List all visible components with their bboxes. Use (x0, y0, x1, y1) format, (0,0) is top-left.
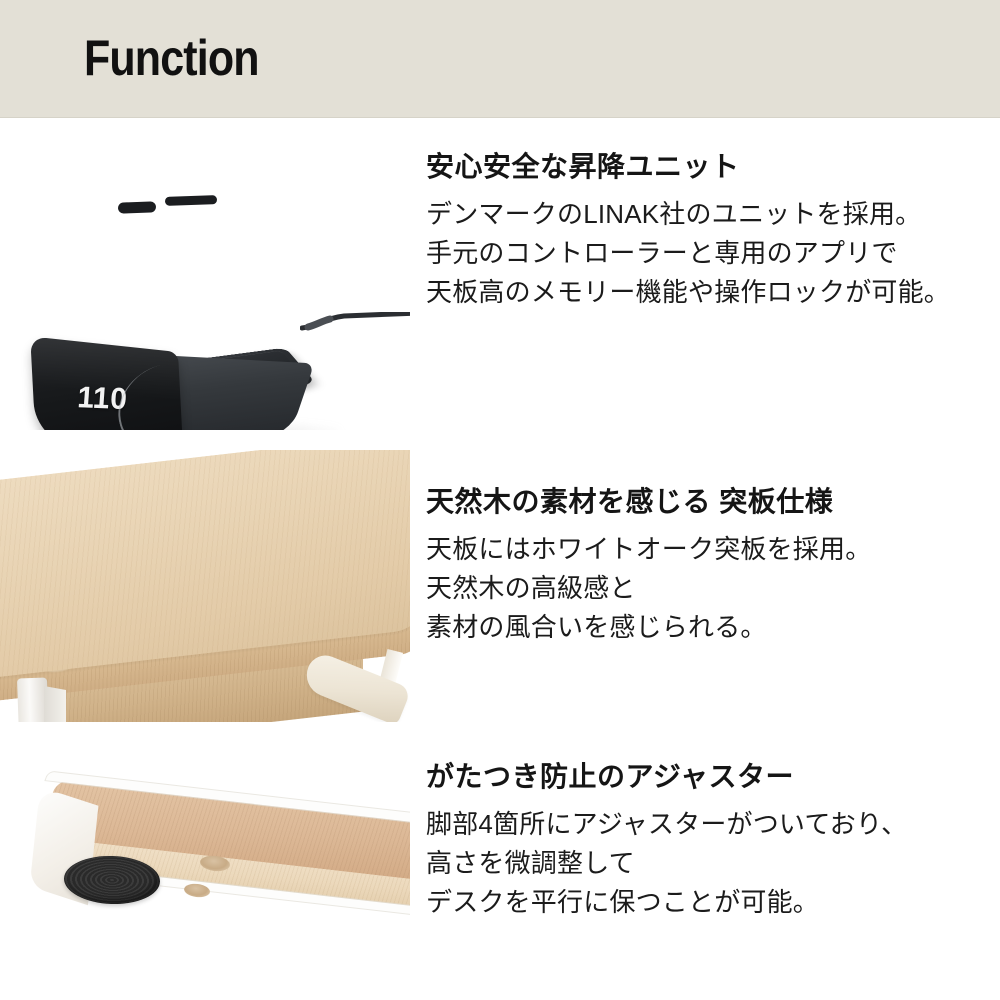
lift-unit-photo: 110 LINAK ® WE IMPROVE YOUR LIFE (0, 130, 410, 430)
controller-vent-slot (118, 201, 156, 213)
page-title: Function (84, 28, 259, 88)
desk-leg-bracket (44, 686, 66, 722)
veneer-copy: 天然木の素材を感じる 突板仕様 天板にはホワイトオーク突板を採用。 天然木の高級… (426, 485, 998, 647)
feature-body: 天板にはホワイトオーク突板を採用。 天然木の高級感と 素材の風合いを感じられる。 (426, 530, 998, 647)
feature-body-line: 脚部4箇所にアジャスターがついており、 (426, 805, 998, 844)
desk-top-photo (0, 440, 410, 730)
desk-top-illustration (0, 450, 410, 722)
feature-body-line: デンマークのLINAK社のユニットを採用。 (426, 195, 998, 234)
feature-body: デンマークのLINAK社のユニットを採用。 手元のコントローラーと専用のアプリで… (426, 195, 998, 312)
desk-controller-illustration: 110 (0, 130, 410, 430)
controller-cable-icon (300, 312, 410, 334)
feature-body-line: 天然木の高級感と (426, 569, 998, 608)
feature-body: 脚部4箇所にアジャスターがついており、 高さを微調整して デスクを平行に保つこと… (426, 805, 998, 922)
lift-unit-copy: 安心安全な昇降ユニット デンマークのLINAK社のユニットを採用。 手元のコント… (426, 150, 998, 312)
controller-vent-slot (165, 195, 217, 206)
adjuster-copy: がたつき防止のアジャスター 脚部4箇所にアジャスターがついており、 高さを微調整… (426, 760, 998, 922)
feature-body-line: 高さを微調整して (426, 844, 998, 883)
feature-heading: 天然木の素材を感じる 突板仕様 (426, 485, 998, 519)
adjuster-foot-illustration (0, 760, 410, 960)
feature-body-line: デスクを平行に保つことが可能。 (426, 883, 998, 922)
feature-section-adjuster: がたつき防止のアジャスター 脚部4箇所にアジャスターがついており、 高さを微調整… (0, 740, 1000, 970)
feature-body-line: 天板にはホワイトオーク突板を採用。 (426, 530, 998, 569)
feature-section-lift-unit: 110 LINAK ® WE IMPROVE YOUR LIFE (0, 130, 1000, 430)
feature-heading: がたつき防止のアジャスター (426, 760, 998, 794)
adjuster-photo (0, 740, 410, 970)
feature-body-line: 素材の風合いを感じられる。 (426, 608, 998, 647)
page-header-band: Function (0, 0, 1000, 118)
feature-body-line: 天板高のメモリー機能や操作ロックが可能。 (426, 273, 998, 312)
feature-heading: 安心安全な昇降ユニット (426, 150, 998, 184)
feature-section-veneer: 天然木の素材を感じる 突板仕様 天板にはホワイトオーク突板を採用。 天然木の高級… (0, 440, 1000, 730)
feature-body-line: 手元のコントローラーと専用のアプリで (426, 234, 998, 273)
